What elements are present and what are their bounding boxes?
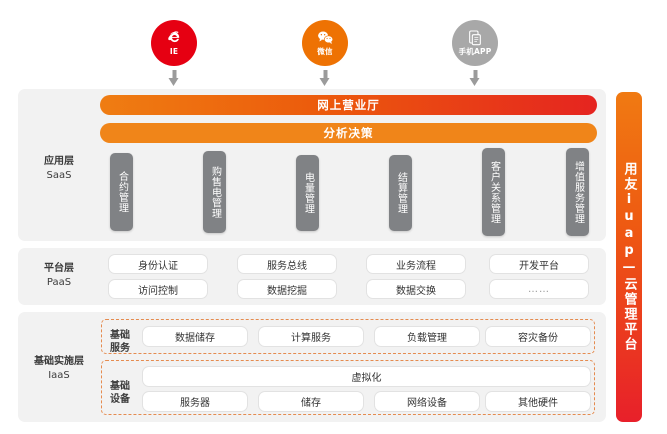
brand-vertical-bar: 用友iuap—云管理平台 bbox=[616, 92, 642, 422]
wechat-icon bbox=[317, 29, 334, 46]
architecture-diagram: IE 微信 bbox=[0, 0, 667, 434]
paas-item-data-exchange[interactable]: 数据交换 bbox=[366, 279, 466, 299]
channel-wechat-bubble: 微信 bbox=[302, 20, 348, 66]
iaas-basic-device-label-line2: 设备 bbox=[104, 393, 136, 406]
iaas-service-load-management[interactable]: 负载管理 bbox=[374, 326, 480, 347]
analysis-decision-bar[interactable]: 分析决策 bbox=[100, 123, 597, 143]
arrow-down-icon bbox=[169, 70, 180, 86]
iaas-device-storage[interactable]: 储存 bbox=[258, 391, 364, 412]
saas-module-value-added-service[interactable]: 增值服务管理 bbox=[566, 148, 589, 236]
channel-ie[interactable]: IE bbox=[143, 20, 205, 66]
iaas-service-disaster-recovery[interactable]: 容灾备份 bbox=[485, 326, 591, 347]
saas-module-electricity-volume[interactable]: 电量管理 bbox=[296, 155, 319, 231]
paas-item-access-control[interactable]: 访问控制 bbox=[108, 279, 208, 299]
iaas-layer-label-cn: 基础实施层 bbox=[20, 355, 98, 369]
iaas-basic-device-label: 基础 设备 bbox=[104, 380, 136, 406]
iaas-basic-service-label-line1: 基础 bbox=[104, 329, 136, 342]
channel-mobile-app-bubble: 手机APP bbox=[452, 20, 498, 66]
saas-module-settlement[interactable]: 结算管理 bbox=[389, 155, 412, 231]
saas-module-contract[interactable]: 合约管理 bbox=[110, 153, 133, 231]
iaas-layer-label-en: IaaS bbox=[20, 369, 98, 383]
iaas-device-network[interactable]: 网络设备 bbox=[374, 391, 480, 412]
paas-layer-label: 平台层 PaaS bbox=[24, 262, 94, 290]
arrow-down-icon bbox=[470, 70, 481, 86]
channel-mobile-app-label: 手机APP bbox=[459, 47, 492, 57]
paas-item-business-process[interactable]: 业务流程 bbox=[366, 254, 466, 274]
channel-ie-label: IE bbox=[170, 47, 178, 57]
saas-module-crm[interactable]: 客户关系管理 bbox=[482, 148, 505, 236]
iaas-device-other-hardware[interactable]: 其他硬件 bbox=[485, 391, 591, 412]
channel-wechat-label: 微信 bbox=[317, 47, 332, 57]
iaas-layer-label: 基础实施层 IaaS bbox=[20, 355, 98, 383]
arrow-down-icon bbox=[320, 70, 331, 86]
saas-layer-label-en: SaaS bbox=[24, 169, 94, 183]
online-business-hall-bar[interactable]: 网上营业厅 bbox=[100, 95, 597, 115]
paas-layer-label-cn: 平台层 bbox=[24, 262, 94, 276]
iaas-basic-service-label-line2: 服务 bbox=[104, 342, 136, 355]
paas-layer-label-en: PaaS bbox=[24, 276, 94, 290]
saas-layer-label-cn: 应用层 bbox=[24, 155, 94, 169]
channel-ie-bubble: IE bbox=[151, 20, 197, 66]
iaas-basic-service-label: 基础 服务 bbox=[104, 329, 136, 355]
iaas-service-data-storage[interactable]: 数据储存 bbox=[142, 326, 248, 347]
saas-layer-label: 应用层 SaaS bbox=[24, 155, 94, 183]
channel-mobile-app[interactable]: 手机APP bbox=[444, 20, 506, 66]
iaas-basic-device-label-line1: 基础 bbox=[104, 380, 136, 393]
saas-module-power-trading[interactable]: 购售电管理 bbox=[203, 151, 226, 233]
paas-item-more[interactable]: …… bbox=[489, 279, 589, 299]
iaas-virtualization[interactable]: 虚拟化 bbox=[142, 366, 591, 387]
paas-item-data-mining[interactable]: 数据挖掘 bbox=[237, 279, 337, 299]
channel-wechat[interactable]: 微信 bbox=[294, 20, 356, 66]
mobile-phone-icon bbox=[468, 29, 482, 46]
paas-item-identity-auth[interactable]: 身份认证 bbox=[108, 254, 208, 274]
paas-item-dev-platform[interactable]: 开发平台 bbox=[489, 254, 589, 274]
iaas-device-server[interactable]: 服务器 bbox=[142, 391, 248, 412]
paas-item-service-bus[interactable]: 服务总线 bbox=[237, 254, 337, 274]
ie-browser-icon bbox=[167, 29, 182, 46]
iaas-service-computing[interactable]: 计算服务 bbox=[258, 326, 364, 347]
